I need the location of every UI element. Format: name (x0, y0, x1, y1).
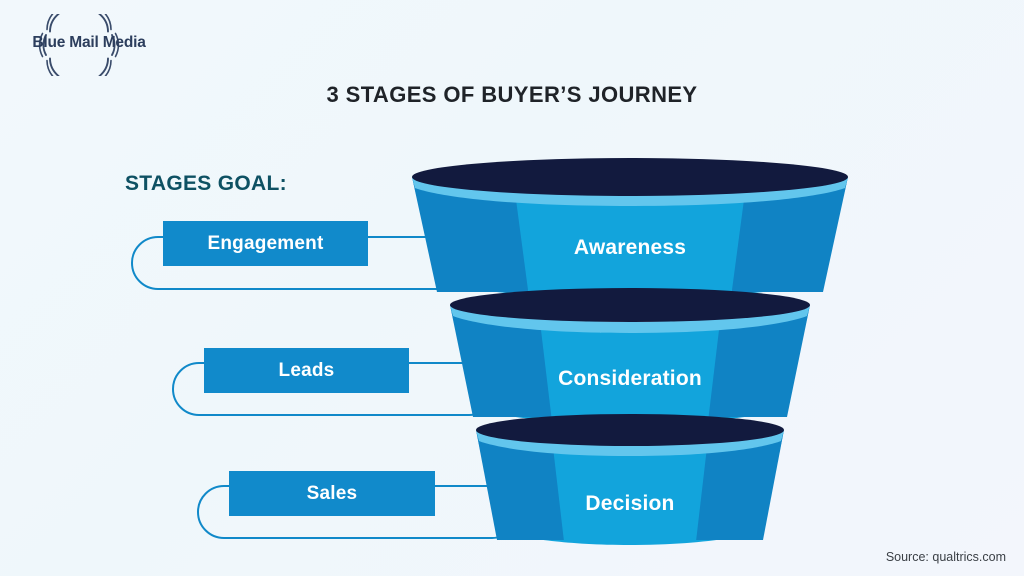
funnel-segment-consideration (450, 288, 810, 430)
funnel-label-decision: Decision (395, 492, 865, 516)
brand-logo: Blue Mail Media (14, 14, 164, 76)
page-title: 3 STAGES OF BUYER’S JOURNEY (0, 82, 1024, 108)
stages-goal-heading: STAGES GOAL: (125, 172, 287, 196)
funnel-segment-awareness (412, 158, 848, 305)
funnel-label-awareness: Awareness (395, 236, 865, 260)
brand-logo-text: Blue Mail Media (14, 34, 164, 52)
goal-label-engagement[interactable]: Engagement (163, 221, 368, 266)
funnel-segment-decision (476, 414, 784, 550)
source-attribution: Source: qualtrics.com (886, 550, 1006, 564)
funnel-label-consideration: Consideration (395, 367, 865, 391)
goal-label-leads[interactable]: Leads (204, 348, 409, 393)
